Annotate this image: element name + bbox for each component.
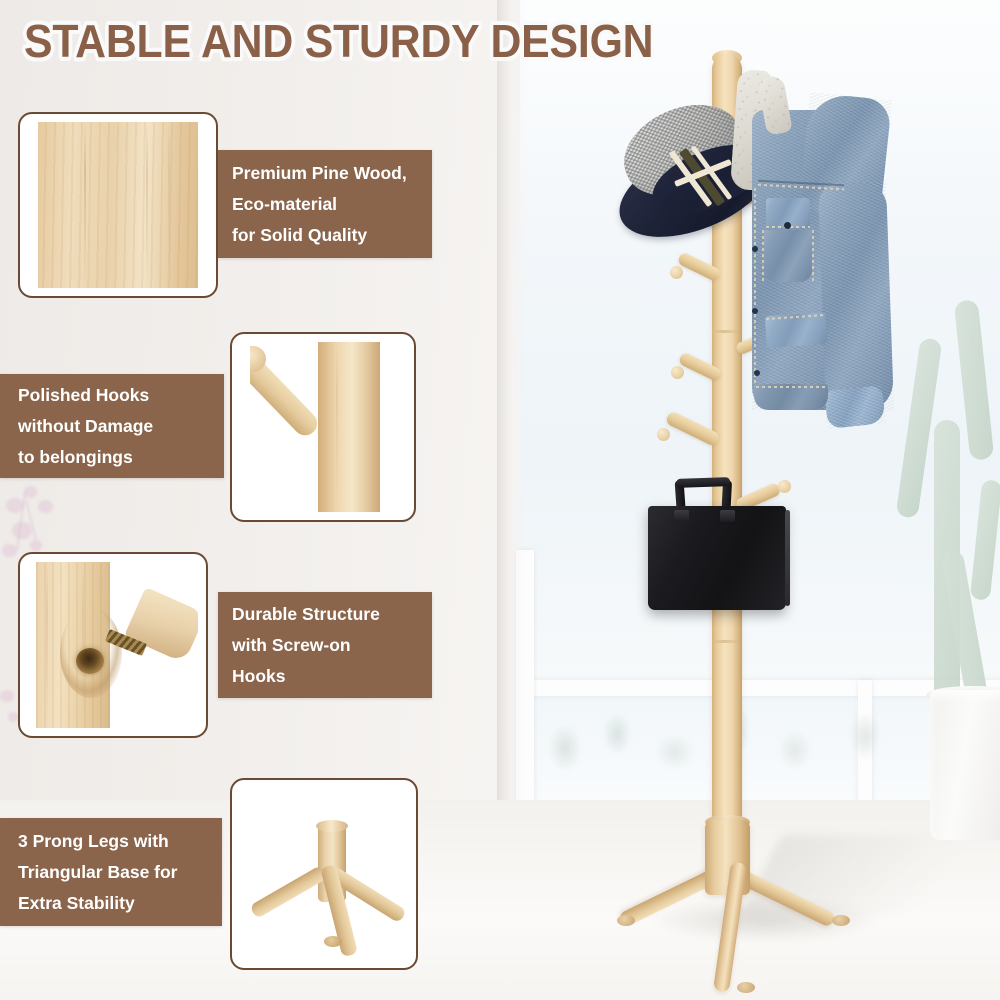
leg-foot [617,915,635,926]
pocket-button [784,222,791,229]
jacket-button [752,246,758,252]
denim-jacket [726,70,886,440]
feature-textbox-polished-hooks: Polished Hooks without Damage to belongi… [0,374,224,478]
feature-textbox-premium-pine-wood: Premium Pine Wood, Eco-material for Soli… [218,150,432,258]
screw-on-hook-closeup-photo [18,552,208,738]
briefcase-clip [674,510,689,522]
hook-cap [670,266,683,279]
feature-line: for Solid Quality [232,220,432,251]
feature-line: without Damage [18,411,224,442]
wall-edge [497,0,527,880]
jacket-cuff [824,385,886,429]
briefcase-body [648,506,786,610]
hem-stitch [756,386,826,388]
feature-line: Premium Pine Wood, [232,158,432,189]
cactus-plant [900,300,1000,730]
jacket-sleeve [818,181,894,413]
feature-textbox-three-prong-legs: 3 Prong Legs with Triangular Base for Ex… [0,818,222,926]
jacket-button [754,370,760,376]
hook-cap [671,366,684,379]
polished-hook-closeup-photo [230,332,416,522]
white-pot [930,690,1000,840]
feature-line: Triangular Base for [18,857,222,888]
briefcase-edge [785,510,790,606]
feature-line: Hooks [232,661,432,692]
feature-line: Eco-material [232,189,432,220]
feature-line: 3 Prong Legs with [18,826,222,857]
pine-wood-closeup-photo [18,112,218,298]
feature-line: Durable Structure [232,599,432,630]
feature-line: Extra Stability [18,888,222,919]
briefcase-clip [720,510,735,522]
chest-pocket [764,230,812,282]
leg-foot [832,915,850,926]
jacket-button [752,308,758,314]
feature-line: to belongings [18,442,224,473]
infographic-canvas: STABLE AND STURDY DESIGN Premium Pine Wo… [0,0,1000,1000]
leg-foot [737,982,755,993]
pole-seam [713,640,741,643]
placket-stitch [754,188,756,388]
feature-textbox-durable-structure: Durable Structure with Screw-on Hooks [218,592,432,698]
pocket-stitch [812,230,814,282]
tripod-base-closeup-photo [230,778,418,970]
hook-cap [657,428,670,441]
page-title: STABLE AND STURDY DESIGN [24,14,653,68]
briefcase-handle-top [676,477,730,488]
pocket-stitch [762,230,764,282]
feature-line: with Screw-on [232,630,432,661]
black-briefcase [648,480,788,610]
feature-line: Polished Hooks [18,380,224,411]
